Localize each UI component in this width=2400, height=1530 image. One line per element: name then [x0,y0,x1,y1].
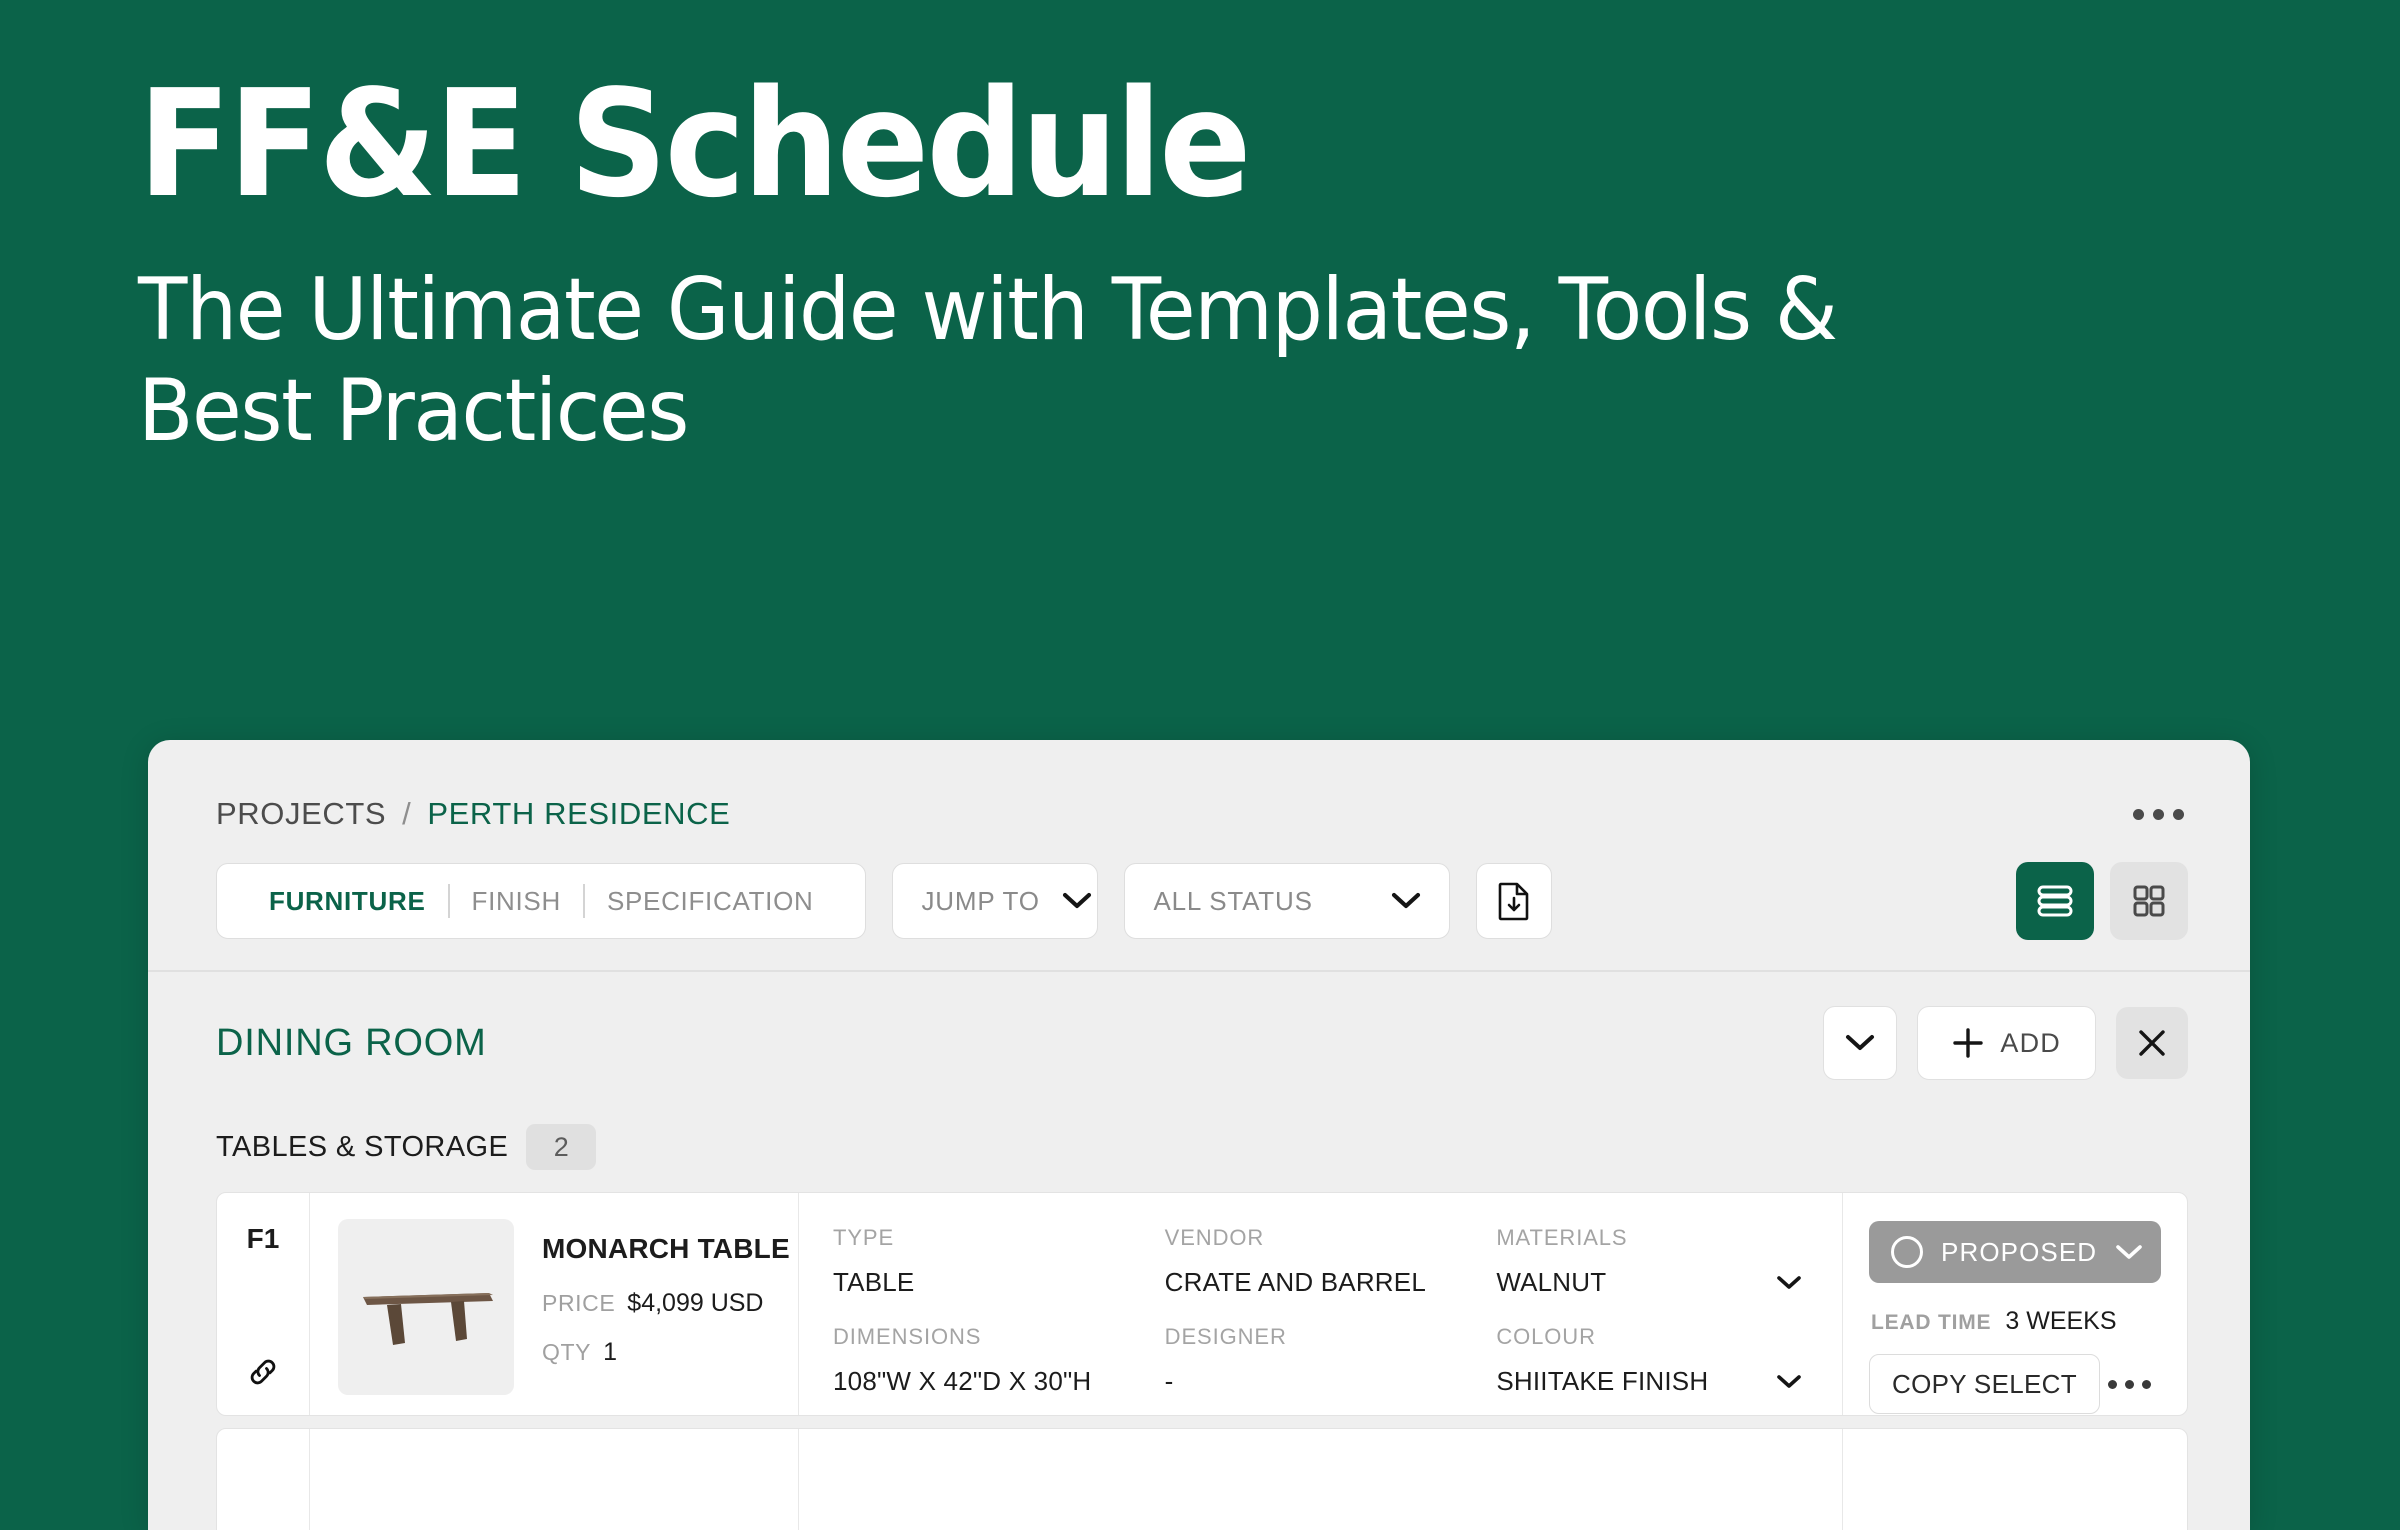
plus-icon [1952,1027,1984,1059]
chevron-down-icon [1062,892,1092,910]
attr-dimensions-label: DIMENSIONS [833,1324,1145,1350]
attr-colour[interactable]: COLOUR SHIITAKE FINISH [1496,1324,1808,1397]
product-meta: MONARCH TABLE PRICE $4,099 USD QTY 1 [542,1219,790,1387]
item-attributes-cell [799,1429,1843,1530]
chevron-down-icon [2115,1244,2143,1261]
jump-to-dropdown[interactable]: JUMP TO [892,863,1098,939]
all-status-label: ALL STATUS [1153,886,1312,917]
item-status-cell [1843,1429,2187,1530]
price-label: PRICE [542,1290,615,1317]
attr-designer-value: - [1165,1366,1477,1397]
product-price: PRICE $4,099 USD [542,1289,790,1318]
category-header: TABLES & STORAGE 2 [148,1080,2250,1192]
room-collapse-button[interactable] [1823,1006,1897,1080]
tab-specification[interactable]: SPECIFICATION [585,886,836,917]
toolbar: FURNITURE FINISH SPECIFICATION JUMP TO A… [148,832,2250,972]
page-title: FF&E Schedule [138,70,2070,218]
item-status-cell: PROPOSED LEAD TIME 3 WEEKS COPY SELECT [1843,1193,2187,1415]
list-view-icon [2035,884,2075,918]
item-code-cell: F1 [217,1193,310,1415]
status-badge[interactable]: PROPOSED [1869,1221,2161,1283]
lead-time: LEAD TIME 3 WEEKS [1871,1307,2161,1336]
room-header: DINING ROOM ADD [148,972,2250,1080]
qty-value: 1 [603,1338,617,1367]
qty-label: QTY [542,1339,591,1366]
item-product-cell [310,1429,799,1530]
tab-finish[interactable]: FINISH [450,886,583,917]
add-item-label: ADD [2000,1028,2061,1059]
attr-designer: DESIGNER - [1165,1324,1477,1397]
room-actions: ADD [1823,1006,2188,1080]
table-row[interactable]: F1 MONAR [216,1192,2188,1416]
hero-section: FF&E Schedule The Ultimate Guide with Te… [138,70,2238,463]
attr-vendor-value: CRATE AND BARREL [1165,1267,1477,1298]
product-thumbnail [338,1219,514,1395]
grid-view-button[interactable] [2110,862,2188,940]
item-list: F1 MONAR [148,1192,2250,1530]
product-qty: QTY 1 [542,1338,790,1367]
file-download-icon [1497,881,1531,921]
status-label: PROPOSED [1941,1237,2097,1268]
kebab-menu-icon[interactable] [2129,799,2188,830]
breadcrumb-separator: / [402,796,411,832]
card-header: PROJECTS / PERTH RESIDENCE [148,740,2250,832]
item-code: F1 [247,1223,280,1255]
item-product-cell: MONARCH TABLE PRICE $4,099 USD QTY 1 [310,1193,799,1415]
lead-time-label: LEAD TIME [1871,1311,1991,1335]
all-status-dropdown[interactable]: ALL STATUS [1124,863,1450,939]
breadcrumb-current-project[interactable]: PERTH RESIDENCE [427,796,730,832]
chevron-down-icon[interactable] [1776,1275,1802,1291]
view-toggle-group [2016,862,2188,940]
jump-to-label: JUMP TO [921,886,1039,917]
attr-dimensions: DIMENSIONS 108"W X 42"D X 30"H [833,1324,1145,1397]
breadcrumb-projects[interactable]: PROJECTS [216,796,386,832]
room-title: DINING ROOM [216,1022,487,1065]
kebab-menu-icon[interactable] [2108,1380,2161,1389]
app-screenshot-card: PROJECTS / PERTH RESIDENCE FURNITURE FIN… [148,740,2250,1530]
copy-select-button[interactable]: COPY SELECT [1869,1354,2100,1414]
category-segmented-control: FURNITURE FINISH SPECIFICATION [216,863,866,939]
attr-materials-label: MATERIALS [1496,1225,1808,1251]
attr-dimensions-value: 108"W X 42"D X 30"H [833,1366,1145,1397]
attr-type: TYPE TABLE [833,1225,1145,1298]
category-title: TABLES & STORAGE [216,1131,508,1164]
table-row[interactable] [216,1428,2188,1530]
tab-furniture[interactable]: FURNITURE [247,886,448,917]
item-attributes-cell: TYPE TABLE VENDOR CRATE AND BARREL MATER… [799,1193,1843,1415]
attr-materials[interactable]: MATERIALS WALNUT [1496,1225,1808,1298]
chevron-down-icon [1391,892,1421,910]
chevron-down-icon [1845,1034,1875,1052]
attr-vendor-label: VENDOR [1165,1225,1477,1251]
dining-table-image [351,1257,501,1357]
attr-colour-value: SHIITAKE FINISH [1496,1366,1708,1397]
attr-designer-label: DESIGNER [1165,1324,1477,1350]
attr-type-label: TYPE [833,1225,1145,1251]
attr-vendor: VENDOR CRATE AND BARREL [1165,1225,1477,1298]
lead-time-value: 3 WEEKS [2005,1307,2116,1336]
close-icon [2136,1027,2168,1059]
page-subtitle: The Ultimate Guide with Templates, Tools… [138,260,2018,463]
status-actions: COPY SELECT [1869,1354,2161,1414]
export-file-button[interactable] [1476,863,1552,939]
attr-colour-label: COLOUR [1496,1324,1808,1350]
chevron-down-icon[interactable] [1776,1374,1802,1390]
attr-type-value: TABLE [833,1267,1145,1298]
circle-outline-icon [1891,1236,1923,1268]
grid-view-icon [2132,884,2166,918]
list-view-button[interactable] [2016,862,2094,940]
close-room-button[interactable] [2116,1007,2188,1079]
item-code-cell [217,1429,310,1530]
category-count-badge: 2 [526,1124,596,1170]
product-name: MONARCH TABLE [542,1233,790,1265]
attr-materials-value: WALNUT [1496,1267,1606,1298]
breadcrumb: PROJECTS / PERTH RESIDENCE [216,796,730,832]
price-value: $4,099 USD [627,1289,763,1318]
add-item-button[interactable]: ADD [1917,1006,2096,1080]
link-icon[interactable] [246,1355,280,1389]
